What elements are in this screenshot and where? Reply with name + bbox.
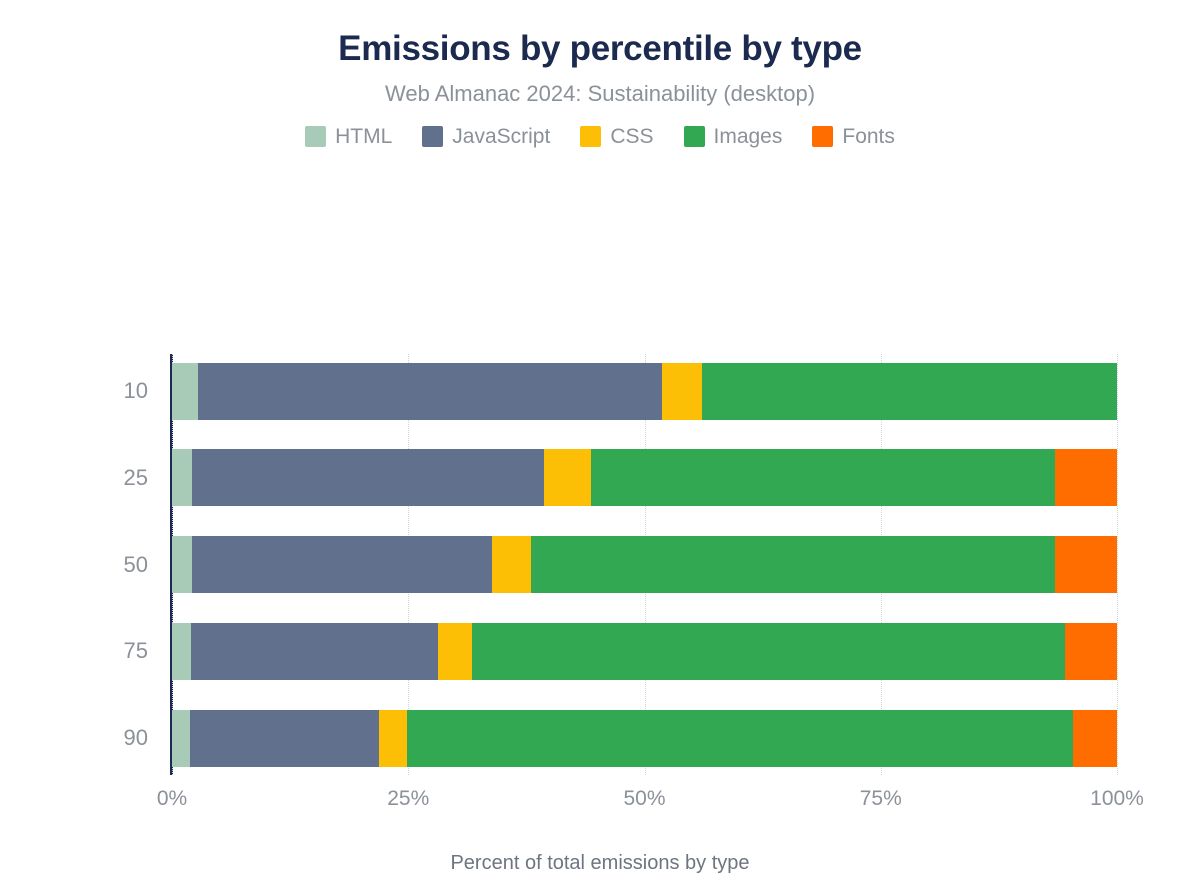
bar-segment-javascript[interactable] (192, 449, 544, 506)
y-axis-tick-label: 50 (124, 552, 148, 578)
x-axis-ticks: 0%25%50%75%100% (172, 787, 1117, 817)
bar-row[interactable]: 75 (172, 623, 1117, 680)
bar-segment-javascript[interactable] (191, 623, 438, 680)
bar-segment-css[interactable] (544, 449, 590, 506)
x-axis-tick-label: 0% (157, 787, 187, 811)
legend-label: HTML (335, 126, 392, 147)
y-axis-tick-label: 10 (124, 378, 148, 404)
bar-segment-html[interactable] (172, 449, 192, 506)
plot-wrapper: Percentile 1025507590 0%25%50%75%100% Pe… (0, 147, 1200, 782)
bar-segment-css[interactable] (438, 623, 472, 680)
bar-segment-images[interactable] (531, 536, 1055, 593)
legend-swatch-icon (580, 126, 601, 147)
legend-swatch-icon (684, 126, 705, 147)
bar-segment-fonts[interactable] (1055, 536, 1117, 593)
legend-label: JavaScript (452, 126, 550, 147)
stacked-bar-chart: Emissions by percentile by type Web Alma… (0, 0, 1200, 782)
x-axis-tick-label: 50% (623, 787, 665, 811)
x-axis-tick-label: 100% (1090, 787, 1144, 811)
bar-segment-fonts[interactable] (1073, 710, 1117, 767)
title-block: Emissions by percentile by type Web Alma… (0, 0, 1200, 106)
legend-label: Images (714, 126, 783, 147)
bar-row[interactable]: 90 (172, 710, 1117, 767)
bar-segment-html[interactable] (172, 363, 198, 420)
legend-swatch-icon (422, 126, 443, 147)
bar-segment-javascript[interactable] (192, 536, 493, 593)
bar-segment-html[interactable] (172, 536, 192, 593)
chart-title: Emissions by percentile by type (0, 30, 1200, 69)
bar-segment-fonts[interactable] (1055, 449, 1117, 506)
bar-segment-images[interactable] (702, 363, 1117, 420)
bar-segment-javascript[interactable] (190, 710, 379, 767)
bar-row[interactable]: 50 (172, 536, 1117, 593)
bar-segment-javascript[interactable] (198, 363, 662, 420)
y-axis-tick-label: 75 (124, 638, 148, 664)
y-axis-tick-label: 90 (124, 725, 148, 751)
bar-segment-html[interactable] (172, 623, 191, 680)
bar-row[interactable]: 25 (172, 449, 1117, 506)
bar-segment-html[interactable] (172, 710, 190, 767)
bar-segment-css[interactable] (379, 710, 407, 767)
bar-segment-css[interactable] (662, 363, 702, 420)
bar-segment-css[interactable] (492, 536, 531, 593)
y-axis-tick-label: 25 (124, 465, 148, 491)
x-axis-tick-label: 25% (387, 787, 429, 811)
legend-label: CSS (610, 126, 653, 147)
chart-legend: HTMLJavaScriptCSSImagesFonts (0, 126, 1200, 147)
legend-swatch-icon (305, 126, 326, 147)
x-axis-tick-label: 75% (860, 787, 902, 811)
bar-row[interactable]: 10 (172, 363, 1117, 420)
legend-item-images[interactable]: Images (684, 126, 783, 147)
legend-item-css[interactable]: CSS (580, 126, 653, 147)
legend-item-fonts[interactable]: Fonts (812, 126, 895, 147)
legend-label: Fonts (842, 126, 895, 147)
bar-rows: 1025507590 (172, 354, 1117, 775)
bar-segment-fonts[interactable] (1065, 623, 1117, 680)
legend-item-html[interactable]: HTML (305, 126, 392, 147)
chart-subtitle: Web Almanac 2024: Sustainability (deskto… (0, 82, 1200, 106)
bar-segment-images[interactable] (407, 710, 1072, 767)
legend-swatch-icon (812, 126, 833, 147)
x-axis-title: Percent of total emissions by type (0, 852, 1200, 875)
legend-item-javascript[interactable]: JavaScript (422, 126, 550, 147)
bar-segment-images[interactable] (591, 449, 1055, 506)
bar-segment-images[interactable] (472, 623, 1065, 680)
plot-area: 1025507590 (172, 354, 1117, 775)
gridline (1117, 354, 1119, 775)
